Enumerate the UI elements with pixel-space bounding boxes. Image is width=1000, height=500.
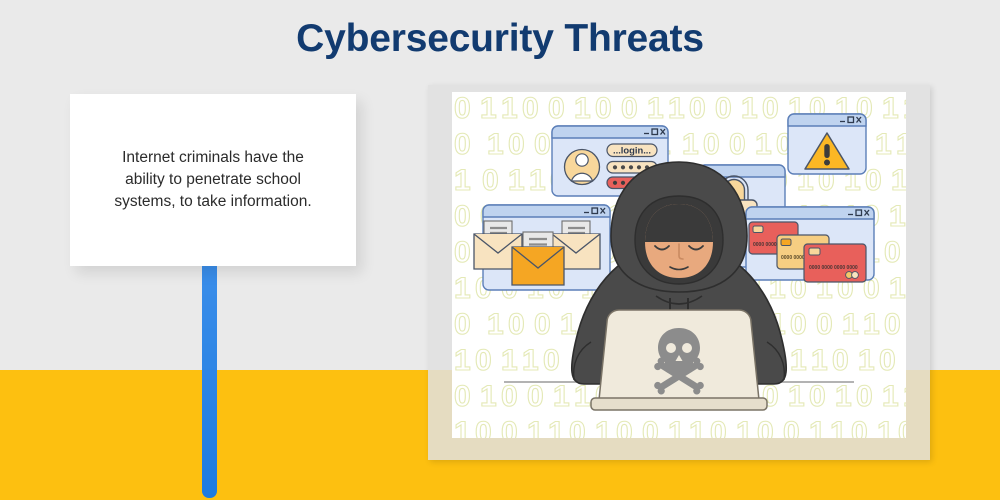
- binary-digit: 1: [790, 344, 807, 377]
- binary-digit: 1: [454, 272, 471, 305]
- binary-digit: 0: [508, 308, 525, 341]
- binary-digit: 1: [788, 380, 805, 413]
- binary-digit: 0: [642, 416, 659, 438]
- binary-digit: 1: [529, 164, 546, 197]
- illustration-canvas: 0110010011001010101100100110010010011001…: [452, 92, 906, 438]
- binary-digit: 0: [454, 92, 471, 125]
- binary-digit: 1: [889, 200, 906, 233]
- binary-digit: 0: [729, 128, 746, 161]
- binary-digit: 1: [501, 92, 518, 125]
- binary-digit: 0: [616, 416, 633, 438]
- credit-card-red-front: 0000 0000 0000 0000: [804, 244, 866, 282]
- binary-digit: 1: [863, 308, 880, 341]
- binary-digit: 0: [884, 236, 901, 269]
- binary-digit: 0: [879, 344, 896, 377]
- binary-digit: 1: [522, 344, 539, 377]
- binary-digit: 1: [501, 344, 518, 377]
- binary-digit: 1: [454, 164, 471, 197]
- binary-digit: 1: [842, 308, 859, 341]
- binary-digit: 0: [501, 380, 518, 413]
- binary-digit: 0: [621, 92, 638, 125]
- binary-digit: 0: [851, 416, 868, 438]
- binary-digit: 0: [501, 416, 518, 438]
- credit-cards-window: 0000 0000 0000 0000 0000 0000 0000 0000: [746, 207, 874, 282]
- binary-digit: 0: [543, 344, 560, 377]
- binary-digit: 1: [809, 416, 826, 438]
- binary-digit: 1: [889, 272, 906, 305]
- binary-digit: 0: [454, 128, 471, 161]
- binary-digit: 0: [809, 380, 826, 413]
- binary-digit: 1: [891, 164, 906, 197]
- svg-text:0000 0000 0000 0000: 0000 0000 0000 0000: [809, 265, 858, 271]
- binary-digit: 0: [522, 92, 539, 125]
- binary-digit: 1: [689, 416, 706, 438]
- binary-digit: 0: [898, 416, 906, 438]
- binary-digit: 1: [574, 380, 591, 413]
- binary-digit: 1: [905, 344, 906, 377]
- binary-digit: 0: [816, 308, 833, 341]
- binary-digit: 0: [689, 92, 706, 125]
- binary-digit: 1: [668, 416, 685, 438]
- binary-digit: 0: [710, 416, 727, 438]
- binary-digit: 1: [668, 92, 685, 125]
- binary-digit: 1: [487, 128, 504, 161]
- binary-digit: 1: [487, 308, 504, 341]
- sign-board: Internet criminals have the ability to p…: [70, 94, 356, 266]
- binary-digit: 1: [647, 92, 664, 125]
- binary-digit: 0: [865, 164, 882, 197]
- binary-digit: 0: [595, 92, 612, 125]
- binary-digit: 1: [903, 380, 906, 413]
- binary-digit: 1: [741, 92, 758, 125]
- binary-digit: 0: [762, 92, 779, 125]
- binary-digit: 1: [755, 128, 772, 161]
- binary-digit: 1: [882, 380, 899, 413]
- binary-digit: 1: [480, 380, 497, 413]
- binary-digit: 0: [454, 236, 471, 269]
- binary-digit: 1: [560, 308, 577, 341]
- binary-digit: 1: [682, 128, 699, 161]
- binary-digit: 1: [553, 380, 570, 413]
- binary-digit: 0: [534, 308, 551, 341]
- binary-digit: 1: [903, 92, 906, 125]
- binary-digit: 1: [527, 416, 544, 438]
- binary-digit: 0: [454, 380, 471, 413]
- svg-text:0000 0000: 0000 0000: [753, 242, 777, 248]
- binary-digit: 1: [480, 92, 497, 125]
- binary-digit: 0: [783, 416, 800, 438]
- binary-digit: 1: [454, 344, 471, 377]
- binary-digit: 0: [454, 200, 471, 233]
- sign-text: Internet criminals have the ability to p…: [107, 147, 319, 214]
- binary-digit: 0: [548, 92, 565, 125]
- binary-digit: 0: [454, 308, 471, 341]
- binary-digit: 0: [475, 416, 492, 438]
- binary-digit: 1: [595, 416, 612, 438]
- warning-alert-window: [788, 114, 866, 174]
- binary-digit: 1: [875, 128, 892, 161]
- binary-digit: 0: [757, 416, 774, 438]
- svg-text:0000 0000: 0000 0000: [781, 255, 805, 261]
- binary-digit: 0: [703, 128, 720, 161]
- binary-digit: 1: [574, 92, 591, 125]
- binary-digit: 1: [830, 416, 847, 438]
- binary-digit: 0: [508, 128, 525, 161]
- binary-digit: 1: [811, 344, 828, 377]
- binary-digit: 1: [454, 416, 471, 438]
- binary-digit: 0: [482, 164, 499, 197]
- binary-digit: 0: [884, 308, 901, 341]
- laptop-with-skull: [591, 310, 767, 410]
- binary-digit: 0: [475, 344, 492, 377]
- login-label-text: ...login...: [613, 144, 651, 155]
- binary-digit: 1: [508, 164, 525, 197]
- binary-digit: 0: [790, 308, 807, 341]
- slide-root: Cybersecurity Threats Internet criminals…: [0, 0, 1000, 500]
- email-phishing-window: [474, 205, 610, 290]
- binary-digit: 1: [858, 344, 875, 377]
- binary-digit: 0: [534, 128, 551, 161]
- binary-digit: 0: [856, 380, 873, 413]
- binary-digit: 1: [548, 416, 565, 438]
- binary-digit: 0: [569, 416, 586, 438]
- binary-digit: 1: [835, 380, 852, 413]
- binary-digit: 0: [527, 380, 544, 413]
- sign-post: [202, 262, 217, 498]
- binary-digit: 1: [896, 128, 906, 161]
- binary-digit: 0: [832, 344, 849, 377]
- binary-digit: 1: [736, 416, 753, 438]
- binary-digit: 0: [715, 92, 732, 125]
- page-title: Cybersecurity Threats: [0, 17, 1000, 61]
- binary-digit: 1: [877, 416, 894, 438]
- binary-digit: 1: [882, 92, 899, 125]
